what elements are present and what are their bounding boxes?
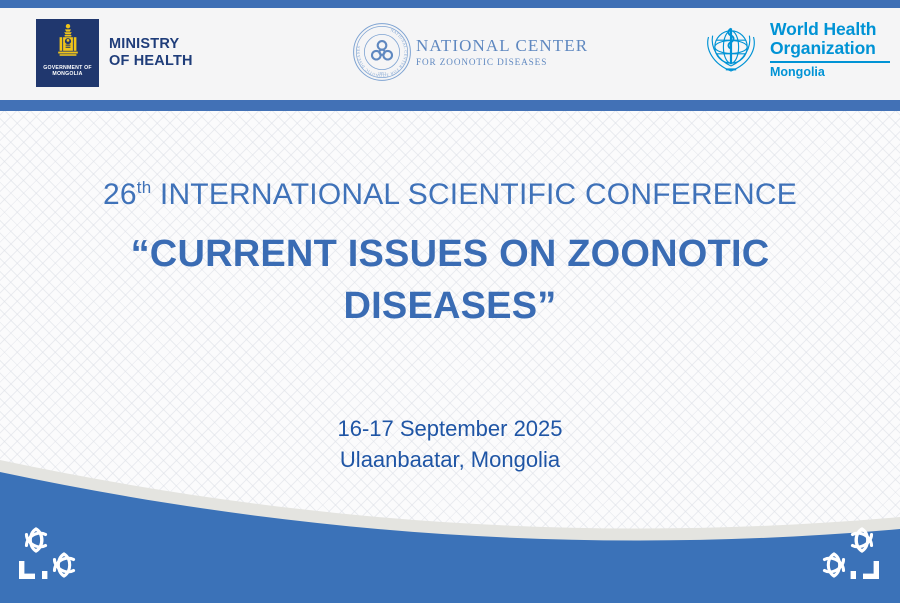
soyombo-icon <box>53 23 83 63</box>
ministry-name-line1: MINISTRY <box>109 36 193 53</box>
conference-number: 26 <box>103 178 137 211</box>
ornament-left <box>14 521 92 592</box>
emblem-caption-line1: GOVERNMENT OF <box>43 65 91 71</box>
ornament-right <box>806 521 884 592</box>
conference-heading: 26th INTERNATIONAL SCIENTIFIC CONFERENCE <box>0 178 900 212</box>
conference-heading-text: INTERNATIONAL SCIENTIFIC CONFERENCE <box>151 178 797 211</box>
conference-title-slide: GOVERNMENT OF MONGOLIA MINISTRY OF HEALT… <box>0 0 900 603</box>
page-title-line2: DISEASES” <box>80 280 820 332</box>
mongolian-knot-ornament-icon <box>806 521 884 587</box>
national-center-zoonotic-diseases-logo: NATIONAL CENTER FOR ZOONOTIC DISEASES 19… <box>352 22 588 82</box>
who-name-line2: Organization <box>770 39 890 58</box>
top-accent-strip <box>0 0 900 8</box>
page-title: “CURRENT ISSUES ON ZOONOTIC DISEASES” <box>80 228 820 332</box>
nczd-name-line2: FOR ZOONOTIC DISEASES <box>416 58 588 67</box>
nczd-seal-year: 1951 <box>378 71 386 76</box>
who-wordmark: World Health Organization Mongolia <box>770 20 890 79</box>
emblem-caption-line2: MONGOLIA <box>52 71 82 77</box>
mongolian-knot-ornament-icon <box>14 521 92 587</box>
who-mongolia-logo: World Health Organization Mongolia <box>700 20 890 79</box>
ministry-of-health-name: MINISTRY OF HEALTH <box>109 36 193 70</box>
who-underline-rule <box>770 61 890 63</box>
bottom-wave-decoration <box>0 455 900 603</box>
conference-ordinal-suffix: th <box>137 178 152 197</box>
nczd-seal-icon: NATIONAL CENTER FOR ZOONOTIC DISEASES 19… <box>352 22 412 82</box>
who-emblem-icon <box>700 20 762 78</box>
page-title-line1: “CURRENT ISSUES ON ZOONOTIC <box>80 228 820 280</box>
event-date: 16-17 September 2025 <box>0 413 900 444</box>
who-country-label: Mongolia <box>770 65 890 79</box>
nczd-name-line1: NATIONAL CENTER <box>416 37 588 54</box>
nczd-wordmark: NATIONAL CENTER FOR ZOONOTIC DISEASES <box>416 37 588 67</box>
government-of-mongolia-emblem: GOVERNMENT OF MONGOLIA <box>36 19 99 87</box>
emblem-caption: GOVERNMENT OF MONGOLIA <box>43 65 91 78</box>
who-name-line1: World Health <box>770 20 890 39</box>
ministry-name-line2: OF HEALTH <box>109 53 193 70</box>
header-divider-bar <box>0 100 900 111</box>
ministry-of-health-logo: GOVERNMENT OF MONGOLIA MINISTRY OF HEALT… <box>36 19 193 87</box>
